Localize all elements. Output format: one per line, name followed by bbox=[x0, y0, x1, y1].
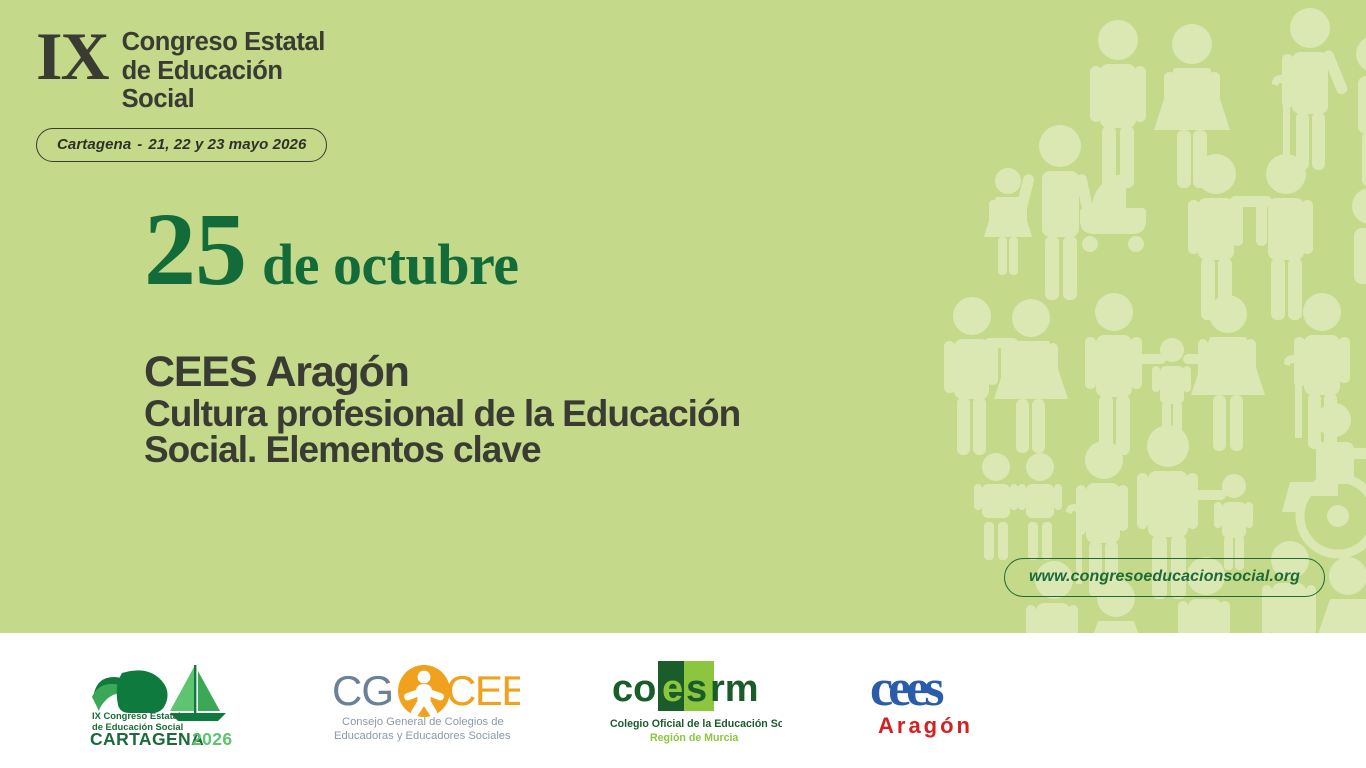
cgcees-mark-right: CEES bbox=[446, 667, 520, 714]
organisation-name: CEES Aragón bbox=[144, 352, 904, 393]
logo-coesrm[interactable]: co e s rm Colegio Oficial de la Educació… bbox=[606, 657, 782, 745]
coesrm-wordmark-e: e bbox=[662, 668, 683, 710]
coesrm-wordmark-rm: rm bbox=[710, 668, 759, 710]
congress-title-line-2: de Educación bbox=[122, 57, 325, 86]
cgcees-line-1: Consejo General de Colegios de bbox=[342, 716, 504, 728]
coesrm-wordmark-c: co bbox=[612, 668, 656, 710]
poster: IX Congreso Estatal de Educación Social … bbox=[0, 0, 1366, 768]
pill-city: Cartagena bbox=[57, 136, 131, 153]
poster-stage: IX Congreso Estatal de Educación Social … bbox=[0, 0, 1366, 633]
cartagena-mark-shapes bbox=[92, 670, 168, 713]
cgcees-line-2: Educadoras y Educadores Sociales bbox=[334, 730, 511, 742]
sponsor-logo-bar: IX Congreso Estatal de Educación Social … bbox=[0, 633, 1366, 768]
poster-main: 25 de octubre CEES Aragón Cultura profes… bbox=[144, 206, 904, 467]
pill-separator: - bbox=[131, 136, 148, 153]
congress-title: Congreso Estatal de Educación Social bbox=[122, 28, 325, 114]
day-number: 25 bbox=[144, 206, 246, 294]
logo-cartagena-2026[interactable]: IX Congreso Estatal de Educación Social … bbox=[82, 655, 242, 747]
brand-row: IX Congreso Estatal de Educación Social bbox=[36, 22, 327, 114]
date-location-pill: Cartagena - 21, 22 y 23 mayo 2026 bbox=[36, 128, 327, 162]
website-url-pill[interactable]: www.congresoeducacionsocial.org bbox=[1004, 558, 1325, 597]
website-url: www.congresoeducacionsocial.org bbox=[1029, 568, 1300, 586]
poster-header: IX Congreso Estatal de Educación Social … bbox=[36, 22, 327, 162]
logo-cgcees[interactable]: CG CEES Consejo General de Colegios de E… bbox=[328, 657, 520, 745]
session-subtitle: Cultura profesional de la Educación Soci… bbox=[144, 396, 754, 468]
cartagena-wordmark: CARTAGENA bbox=[90, 729, 204, 747]
coesrm-line-1: Colegio Oficial de la Educación Social bbox=[610, 718, 782, 730]
cees-aragon-region: Aragón bbox=[878, 713, 973, 738]
cgcees-mark-left: CG bbox=[332, 667, 393, 714]
pictogram-artwork bbox=[936, 0, 1366, 633]
roman-numeral: IX bbox=[36, 24, 108, 89]
cartagena-line-1: IX Congreso Estatal bbox=[92, 710, 181, 721]
session-date: 25 de octubre bbox=[144, 206, 904, 294]
congress-title-line-1: Congreso Estatal bbox=[122, 28, 325, 57]
day-month: de octubre bbox=[262, 239, 519, 291]
cartagena-year: 2026 bbox=[192, 729, 233, 747]
pill-dates: 21, 22 y 23 mayo 2026 bbox=[148, 136, 306, 153]
congress-title-line-3: Social bbox=[122, 85, 325, 114]
cees-aragon-wordmark: cees bbox=[870, 661, 943, 717]
logo-cees-aragon[interactable]: cees Aragón bbox=[868, 661, 1044, 741]
coesrm-line-2: Región de Murcia bbox=[650, 732, 738, 744]
coesrm-wordmark-s: s bbox=[686, 668, 707, 710]
